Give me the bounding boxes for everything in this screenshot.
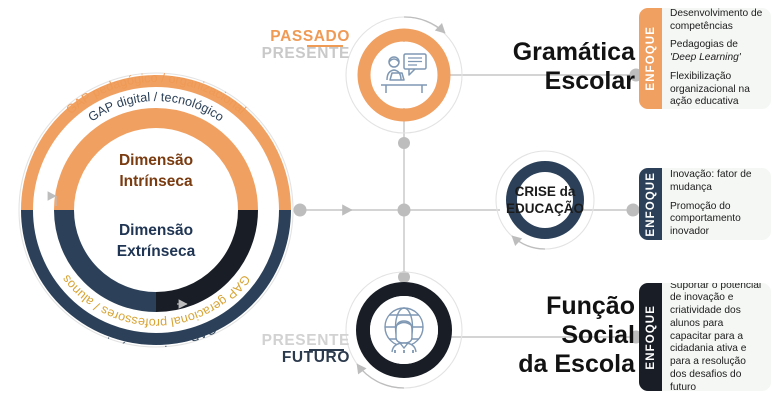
junction-dot-bottom xyxy=(398,271,410,283)
enfoque-bullet-3-1: Suportar o potencial de inovação e criat… xyxy=(670,283,765,391)
era-bottom-line2: FUTURO xyxy=(250,349,350,366)
era-top-line1: PASSADO xyxy=(250,28,350,45)
enfoque-body-2: Inovação: fator de mudança Promoção do c… xyxy=(662,168,771,240)
node-title-funcao-social-da-escola: Função Social da Escola xyxy=(470,292,635,379)
enfoque-tab-1: ENFOQUE xyxy=(639,8,662,109)
junction-dot-wheel xyxy=(294,204,307,217)
gap-wheel: GAP pedagógico / organizacional GAP digi… xyxy=(19,71,293,349)
node1-title-line2: Escolar xyxy=(470,67,635,96)
enfoque-card-funcao-social-da-escola[interactable]: ENFOQUE Suportar o potencial de inovação… xyxy=(639,283,771,391)
center-label-intrinseca-line2: Intrínseca xyxy=(119,173,193,190)
era-top-line2: PRESENTE xyxy=(250,45,350,62)
enfoque-tab-3: ENFOQUE xyxy=(639,283,662,391)
node-funcao-social-da-escola[interactable] xyxy=(346,272,462,388)
node3-title-line2: da Escola xyxy=(470,350,635,379)
enfoque-card-crise-da-educacao[interactable]: ENFOQUE Inovação: fator de mudança Promo… xyxy=(639,168,771,240)
enfoque-tab-label-2: ENFOQUE xyxy=(645,172,657,237)
enfoque-card-gramatica-escolar[interactable]: ENFOQUE Desenvolvimento de competências … xyxy=(639,8,771,109)
era-bottom-rule xyxy=(309,349,344,351)
node-title-gramatica-escolar: Gramática Escolar xyxy=(470,38,635,96)
enfoque-bullet-2-1: Inovação: fator de mudança xyxy=(670,169,765,195)
node-crise-da-educacao[interactable]: CRISE da EDUCAÇÃO xyxy=(496,151,594,249)
node1-title-line1: Gramática xyxy=(470,38,635,67)
node-gramatica-escolar[interactable] xyxy=(346,17,462,133)
era-label-passado-presente: PASSADO PRESENTE xyxy=(250,28,350,63)
center-label-extrinseca-line2: Extrínseca xyxy=(117,243,196,260)
enfoque-bullet-1-3: Flexibilização organizacional na ação ed… xyxy=(670,71,765,109)
infographic-canvas: GAP pedagógico / organizacional GAP digi… xyxy=(0,0,773,400)
node2-title-line2: EDUCAÇÃO xyxy=(506,201,584,216)
enfoque-tab-2: ENFOQUE xyxy=(639,168,662,240)
enfoque-bullet-1-2: Pedagogias de 'Deep Learning' xyxy=(670,39,765,65)
junction-dot-top xyxy=(398,137,410,149)
center-label-extrinseca-line1: Dimensão xyxy=(119,222,193,239)
junction-dot-card2 xyxy=(627,204,640,217)
enfoque-bullet-1-2-text: Pedagogias de xyxy=(670,39,738,50)
era-top-rule xyxy=(307,45,343,47)
node2-title-line1: CRISE da xyxy=(515,184,576,199)
enfoque-tab-label-1: ENFOQUE xyxy=(645,26,657,91)
junction-dot-center xyxy=(398,204,411,217)
enfoque-bullet-2-2: Promoção do comportamento inovador xyxy=(670,201,765,239)
center-label-intrinseca-line1: Dimensão xyxy=(119,152,193,169)
node1-disc xyxy=(371,42,437,108)
era-label-presente-futuro: PRESENTE FUTURO xyxy=(250,332,350,367)
enfoque-body-3: Suportar o potencial de inovação e criat… xyxy=(662,283,771,391)
node2-disc xyxy=(517,172,573,228)
era-bottom-line1: PRESENTE xyxy=(250,332,350,349)
enfoque-bullet-1-1: Desenvolvimento de competências xyxy=(670,8,765,33)
node3-title-line1: Função Social xyxy=(470,292,635,350)
enfoque-bullet-1-2-italic: 'Deep Learning' xyxy=(670,52,741,63)
enfoque-tab-label-3: ENFOQUE xyxy=(645,305,657,370)
enfoque-body-1: Desenvolvimento de competências Pedagogi… xyxy=(662,8,771,109)
